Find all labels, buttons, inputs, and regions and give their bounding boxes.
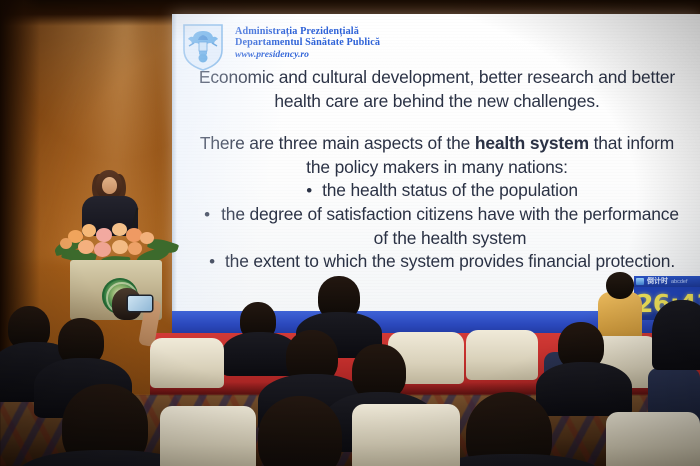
slide-header: Administrația Prezidențială Departamentu… [180, 22, 380, 72]
timer-sublabel: abcdef [671, 279, 688, 285]
slide-body: Economic and cultural development, bette… [188, 66, 686, 274]
conference-photo: Administrația Prezidențială Departamentu… [0, 0, 700, 466]
p2-bold: health system [475, 133, 589, 153]
timer-label: 倒计时 [647, 278, 668, 285]
lectern-area [52, 168, 182, 318]
romanian-coat-of-arms-icon [180, 22, 226, 72]
floor-shading [0, 395, 700, 466]
timer-header: 倒计时 abcdef [634, 276, 700, 287]
bullet-3-text: the extent to which the system provides … [225, 250, 675, 274]
slide-paragraph-1: Economic and cultural development, bette… [188, 66, 686, 113]
bullet-glyph: • [194, 203, 220, 227]
bullet-2-text: the degree of satisfaction citizens have… [220, 203, 680, 250]
timer-value: 26:43 [634, 287, 700, 320]
bullet-1-text: the health status of the population [322, 179, 578, 203]
projection-screen: Administrația Prezidențială Departamentu… [172, 14, 700, 314]
org-url: www.presidency.ro [235, 49, 380, 61]
slide-bullet-1: • the health status of the population [188, 179, 686, 203]
p2-prefix: There are three main aspects of the [200, 133, 475, 153]
org-identity: Administrația Prezidențială Departamentu… [235, 22, 380, 61]
countdown-timer-panel: 倒计时 abcdef 26:43 [634, 276, 700, 320]
bullet-glyph: • [296, 179, 322, 203]
slide-paragraph-2: There are three main aspects of the heal… [188, 132, 686, 179]
slide-bullet-2: • the degree of satisfaction citizens ha… [188, 203, 686, 250]
speaker-face [102, 177, 117, 194]
bullet-glyph: • [199, 250, 225, 274]
stage-blue-band [172, 311, 700, 335]
conference-emblem-ring [106, 282, 138, 314]
org-line-1: Administrația Prezidențială [235, 26, 380, 37]
slide-bullet-3: • the extent to which the system provide… [188, 250, 686, 274]
org-line-2: Departamentul Sănătate Publică [235, 37, 380, 48]
timer-icon [636, 278, 644, 285]
